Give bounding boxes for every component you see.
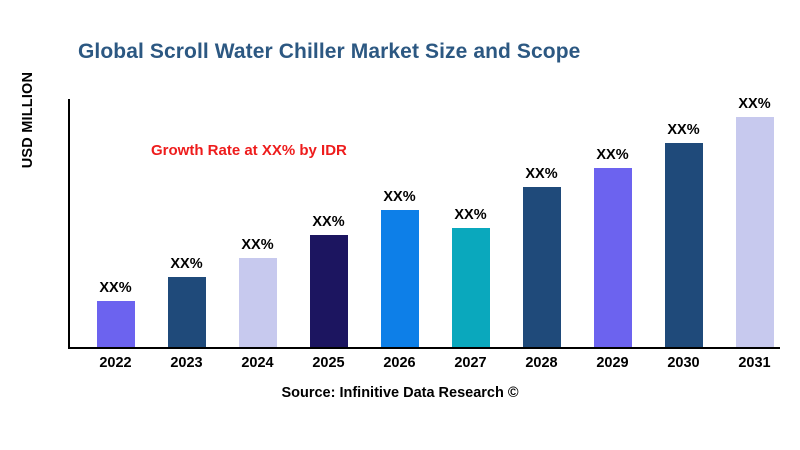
- x-tick-2025: 2025: [293, 355, 364, 371]
- source-caption: Source: Infinitive Data Research ©: [0, 385, 800, 401]
- bar-value-label: XX%: [312, 214, 344, 230]
- bar-group[interactable]: XX%: [151, 99, 222, 347]
- bar-2029[interactable]: [594, 168, 632, 347]
- bar-2028[interactable]: [523, 187, 561, 347]
- bar-2030[interactable]: [665, 143, 703, 347]
- bar-value-label: XX%: [596, 147, 628, 163]
- bar-group[interactable]: XX%: [80, 99, 151, 347]
- x-tick-2026: 2026: [364, 355, 435, 371]
- x-tick-2030: 2030: [648, 355, 719, 371]
- market-size-bar-chart: Global Scroll Water Chiller Market Size …: [0, 0, 800, 450]
- bar-value-label: XX%: [170, 256, 202, 272]
- bar-value-label: XX%: [525, 166, 557, 182]
- bar-group[interactable]: XX%: [648, 99, 719, 347]
- x-tick-2027: 2027: [435, 355, 506, 371]
- bar-group[interactable]: XX%: [435, 99, 506, 347]
- x-tick-2024: 2024: [222, 355, 293, 371]
- x-tick-2022: 2022: [80, 355, 151, 371]
- bar-2024[interactable]: [239, 258, 277, 347]
- bar-2027[interactable]: [452, 228, 490, 347]
- bar-group[interactable]: XX%: [293, 99, 364, 347]
- bar-2022[interactable]: [97, 301, 135, 347]
- bar-2026[interactable]: [381, 210, 419, 347]
- bar-value-label: XX%: [667, 122, 699, 138]
- bar-value-label: XX%: [383, 189, 415, 205]
- bars-layer: XX%XX%XX%XX%XX%XX%XX%XX%XX%XX%: [70, 99, 780, 347]
- bar-group[interactable]: XX%: [577, 99, 648, 347]
- bar-group[interactable]: XX%: [222, 99, 293, 347]
- x-axis-line: [68, 347, 780, 349]
- bar-group[interactable]: XX%: [506, 99, 577, 347]
- bar-value-label: XX%: [99, 280, 131, 296]
- plot-area: Growth Rate at XX% by IDR XX%XX%XX%XX%XX…: [68, 99, 780, 349]
- x-tick-2029: 2029: [577, 355, 648, 371]
- x-tick-2028: 2028: [506, 355, 577, 371]
- bar-2025[interactable]: [310, 235, 348, 347]
- x-tick-2031: 2031: [719, 355, 790, 371]
- chart-title: Global Scroll Water Chiller Market Size …: [78, 40, 580, 64]
- bar-group[interactable]: XX%: [719, 99, 790, 347]
- bar-value-label: XX%: [454, 207, 486, 223]
- bar-group[interactable]: XX%: [364, 99, 435, 347]
- bar-2031[interactable]: [736, 117, 774, 347]
- x-tick-2023: 2023: [151, 355, 222, 371]
- bar-2023[interactable]: [168, 277, 206, 347]
- y-axis-title: USD MILLION: [20, 45, 36, 195]
- bar-value-label: XX%: [241, 237, 273, 253]
- bar-value-label: XX%: [738, 96, 770, 112]
